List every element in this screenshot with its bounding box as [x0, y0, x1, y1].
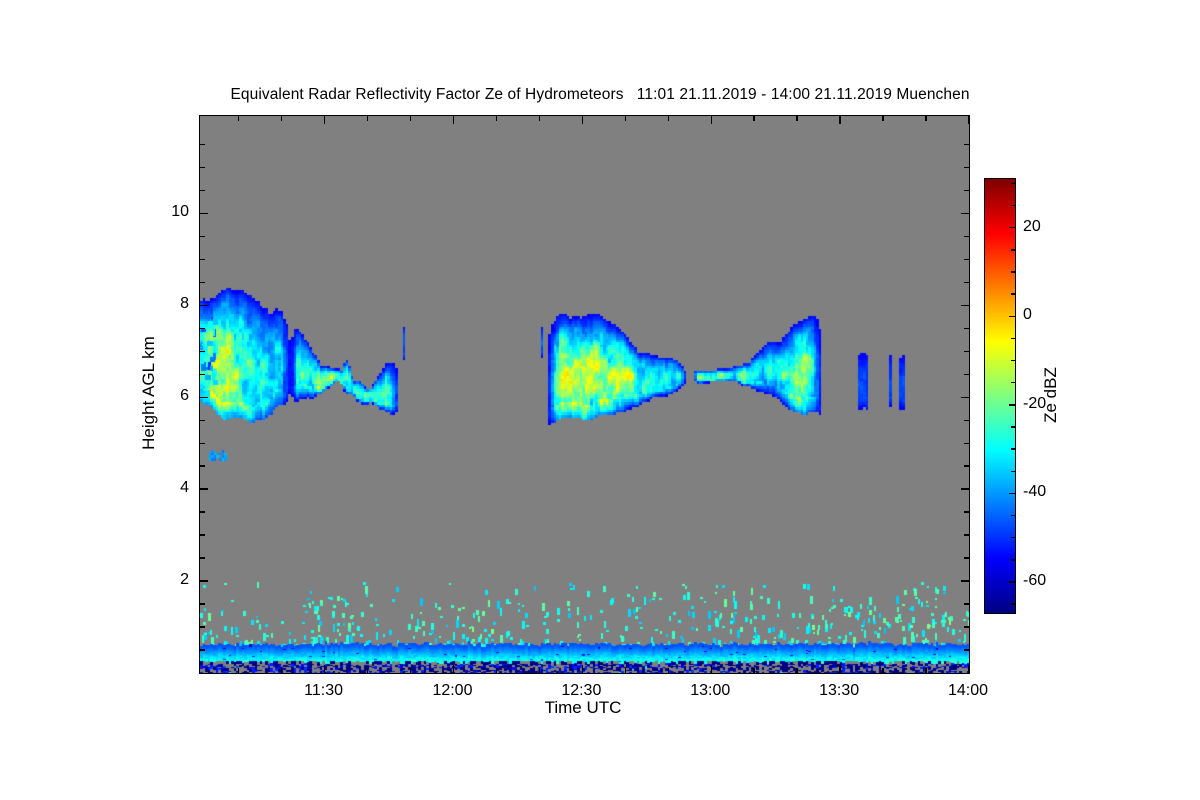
colorbar-tick-major	[1009, 316, 1015, 317]
x-tick-minor-top	[668, 116, 669, 121]
y-tick-major	[200, 213, 208, 214]
y-tick-label: 4	[129, 479, 189, 497]
x-tick-label: 13:30	[794, 682, 884, 700]
colorbar-tick-minor	[1011, 360, 1015, 361]
y-tick-minor	[200, 328, 205, 329]
colorbar-tick-minor	[1011, 537, 1015, 538]
y-tick-minor	[200, 443, 205, 444]
y-tick-minor-right	[964, 603, 969, 604]
x-tick-minor	[281, 668, 282, 673]
y-tick-major-right	[961, 488, 969, 489]
y-tick-minor	[200, 144, 205, 145]
y-tick-minor	[200, 282, 205, 283]
y-tick-major-right	[961, 580, 969, 581]
x-tick-major	[582, 665, 583, 673]
x-tick-major	[453, 665, 454, 673]
y-tick-label: 8	[129, 295, 189, 313]
colorbar-tick-label: 20	[1023, 218, 1041, 236]
x-tick-minor-top	[281, 116, 282, 121]
y-tick-minor	[200, 511, 205, 512]
y-tick-minor-right	[964, 374, 969, 375]
colorbar-tick-minor	[1011, 183, 1015, 184]
x-tick-label: 14:00	[923, 682, 1013, 700]
colorbar-tick-major	[1009, 404, 1015, 405]
y-tick-major-right	[961, 213, 969, 214]
y-tick-minor	[200, 167, 205, 168]
y-tick-minor	[200, 259, 205, 260]
y-tick-major	[200, 397, 208, 398]
x-tick-minor	[496, 668, 497, 673]
y-tick-minor	[200, 626, 205, 627]
x-tick-minor-top	[367, 116, 368, 121]
y-axis-title: Height AGL km	[139, 336, 159, 450]
x-tick-major	[711, 665, 712, 673]
x-tick-label: 12:00	[407, 682, 497, 700]
colorbar-tick-minor	[1011, 471, 1015, 472]
y-tick-minor-right	[964, 259, 969, 260]
y-tick-minor	[200, 420, 205, 421]
y-tick-label: 6	[129, 387, 189, 405]
x-tick-minor-top	[796, 116, 797, 121]
colorbar-tick-major	[1009, 227, 1015, 228]
x-tick-major-top	[839, 116, 840, 124]
y-tick-minor-right	[964, 282, 969, 283]
y-tick-minor-right	[964, 511, 969, 512]
y-tick-minor-right	[964, 557, 969, 558]
x-tick-minor-top	[753, 116, 754, 121]
x-tick-minor	[367, 668, 368, 673]
y-tick-minor	[200, 649, 205, 650]
x-tick-minor-top	[625, 116, 626, 121]
x-tick-minor	[668, 668, 669, 673]
y-tick-minor-right	[964, 236, 969, 237]
y-tick-minor-right	[964, 167, 969, 168]
y-tick-minor-right	[964, 351, 969, 352]
colorbar-tick-minor	[1011, 338, 1015, 339]
plot-area	[199, 115, 970, 674]
x-tick-major	[839, 665, 840, 673]
x-tick-minor	[796, 668, 797, 673]
x-axis-title: Time UTC	[545, 698, 622, 718]
x-tick-major	[324, 665, 325, 673]
x-tick-minor-top	[410, 116, 411, 121]
y-tick-minor-right	[964, 465, 969, 466]
colorbar-tick-minor	[1011, 559, 1015, 560]
x-tick-minor	[753, 668, 754, 673]
chart-title: Equivalent Radar Reflectivity Factor Ze …	[0, 86, 1200, 104]
colorbar-tick-label: -40	[1023, 483, 1046, 501]
colorbar-tick-minor	[1011, 249, 1015, 250]
x-tick-minor	[238, 668, 239, 673]
x-tick-major-top	[968, 116, 969, 124]
x-tick-minor	[410, 668, 411, 673]
radar-time-height-plot: Equivalent Radar Reflectivity Factor Ze …	[0, 0, 1200, 800]
y-tick-minor-right	[964, 443, 969, 444]
x-tick-label: 11:30	[279, 682, 369, 700]
y-tick-minor	[200, 603, 205, 604]
colorbar-gradient	[985, 179, 1015, 613]
colorbar-tick-minor	[1011, 515, 1015, 516]
x-tick-minor	[882, 668, 883, 673]
y-tick-minor-right	[964, 534, 969, 535]
x-tick-major	[968, 665, 969, 673]
y-tick-minor-right	[964, 626, 969, 627]
y-tick-label: 10	[129, 203, 189, 221]
colorbar-tick-minor	[1011, 205, 1015, 206]
y-tick-minor-right	[964, 649, 969, 650]
y-tick-minor	[200, 534, 205, 535]
y-tick-minor-right	[964, 190, 969, 191]
y-tick-label: 2	[129, 571, 189, 589]
y-tick-major-right	[961, 305, 969, 306]
x-tick-minor	[925, 668, 926, 673]
colorbar-tick-minor	[1011, 426, 1015, 427]
y-tick-minor	[200, 557, 205, 558]
x-tick-minor	[625, 668, 626, 673]
colorbar	[984, 178, 1016, 614]
x-tick-minor-top	[539, 116, 540, 121]
y-tick-minor	[200, 190, 205, 191]
colorbar-tick-major	[1009, 581, 1015, 582]
colorbar-title: Ze dBZ	[1041, 367, 1061, 423]
x-tick-major-top	[582, 116, 583, 124]
y-tick-major	[200, 488, 208, 489]
x-tick-minor-top	[882, 116, 883, 121]
x-tick-minor-top	[496, 116, 497, 121]
x-tick-minor-top	[238, 116, 239, 121]
colorbar-tick-minor	[1011, 271, 1015, 272]
colorbar-tick-minor	[1011, 293, 1015, 294]
x-tick-major-top	[453, 116, 454, 124]
x-tick-minor-top	[925, 116, 926, 121]
x-tick-minor	[539, 668, 540, 673]
colorbar-tick-minor	[1011, 382, 1015, 383]
y-tick-minor	[200, 351, 205, 352]
y-tick-minor	[200, 465, 205, 466]
colorbar-tick-label: 0	[1023, 306, 1032, 324]
y-tick-minor-right	[964, 420, 969, 421]
x-tick-major-top	[324, 116, 325, 124]
reflectivity-heatmap-canvas	[200, 116, 969, 673]
colorbar-tick-minor	[1011, 603, 1015, 604]
y-tick-major-right	[961, 397, 969, 398]
y-tick-minor-right	[964, 144, 969, 145]
y-tick-minor	[200, 236, 205, 237]
colorbar-tick-major	[1009, 493, 1015, 494]
y-tick-major	[200, 580, 208, 581]
y-tick-major	[200, 305, 208, 306]
colorbar-tick-minor	[1011, 448, 1015, 449]
y-tick-minor-right	[964, 328, 969, 329]
x-tick-major-top	[711, 116, 712, 124]
x-tick-label: 13:00	[665, 682, 755, 700]
y-tick-minor	[200, 374, 205, 375]
colorbar-tick-label: -60	[1023, 572, 1046, 590]
